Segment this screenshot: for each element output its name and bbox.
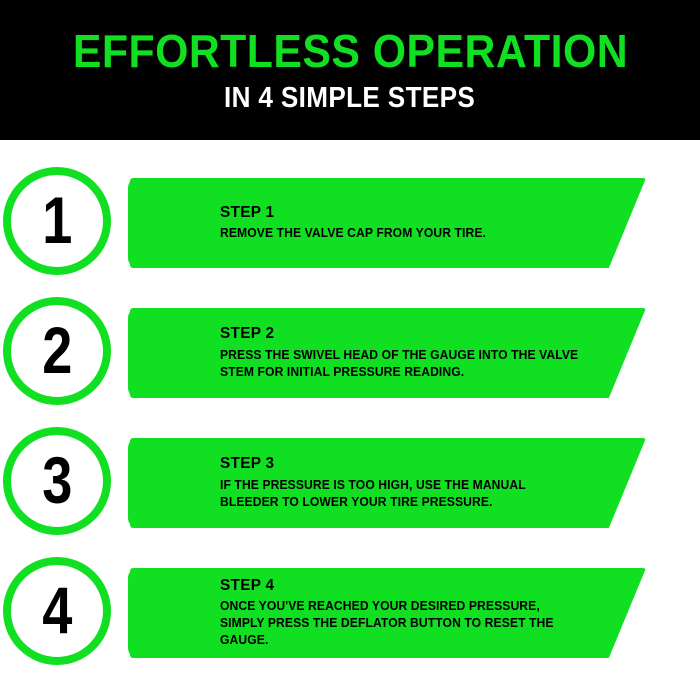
step-number-badge: 1 — [3, 167, 111, 275]
step-item: 1 STEP 1 REMOVE THE VALVE CAP FROM YOUR … — [0, 162, 700, 292]
step-number: 1 — [42, 187, 71, 253]
steps-list: 1 STEP 1 REMOVE THE VALVE CAP FROM YOUR … — [0, 140, 700, 700]
step-number-badge: 3 — [3, 427, 111, 535]
step-item: 4 STEP 4 ONCE YOU'VE REACHED YOUR DESIRE… — [0, 552, 700, 682]
step-number-badge: 4 — [3, 557, 111, 665]
step-label: STEP 4 — [220, 577, 585, 595]
step-number: 3 — [42, 447, 71, 513]
step-description: IF THE PRESSURE IS TOO HIGH, USE THE MAN… — [220, 477, 581, 511]
step-number-badge: 2 — [3, 297, 111, 405]
infographic-page: EFFORTLESS OPERATION IN 4 SIMPLE STEPS 1… — [0, 0, 700, 700]
step-description: ONCE YOU'VE REACHED YOUR DESIRED PRESSUR… — [220, 598, 581, 649]
step-item: 2 STEP 2 PRESS THE SWIVEL HEAD OF THE GA… — [0, 292, 700, 422]
step-label: STEP 1 — [220, 204, 585, 222]
step-text-block: STEP 3 IF THE PRESSURE IS TOO HIGH, USE … — [220, 438, 600, 528]
step-label: STEP 3 — [220, 455, 585, 473]
step-description: REMOVE THE VALVE CAP FROM YOUR TIRE. — [220, 225, 581, 242]
step-text-block: STEP 4 ONCE YOU'VE REACHED YOUR DESIRED … — [220, 568, 600, 658]
header-band: EFFORTLESS OPERATION IN 4 SIMPLE STEPS — [0, 0, 700, 140]
page-title: EFFORTLESS OPERATION — [72, 28, 627, 74]
step-label: STEP 2 — [220, 325, 585, 343]
step-number: 2 — [42, 317, 71, 383]
page-subtitle: IN 4 SIMPLE STEPS — [224, 84, 475, 113]
step-number: 4 — [42, 577, 71, 643]
step-item: 3 STEP 3 IF THE PRESSURE IS TOO HIGH, US… — [0, 422, 700, 552]
step-text-block: STEP 2 PRESS THE SWIVEL HEAD OF THE GAUG… — [220, 308, 600, 398]
step-description: PRESS THE SWIVEL HEAD OF THE GAUGE INTO … — [220, 347, 581, 381]
step-text-block: STEP 1 REMOVE THE VALVE CAP FROM YOUR TI… — [220, 178, 600, 268]
